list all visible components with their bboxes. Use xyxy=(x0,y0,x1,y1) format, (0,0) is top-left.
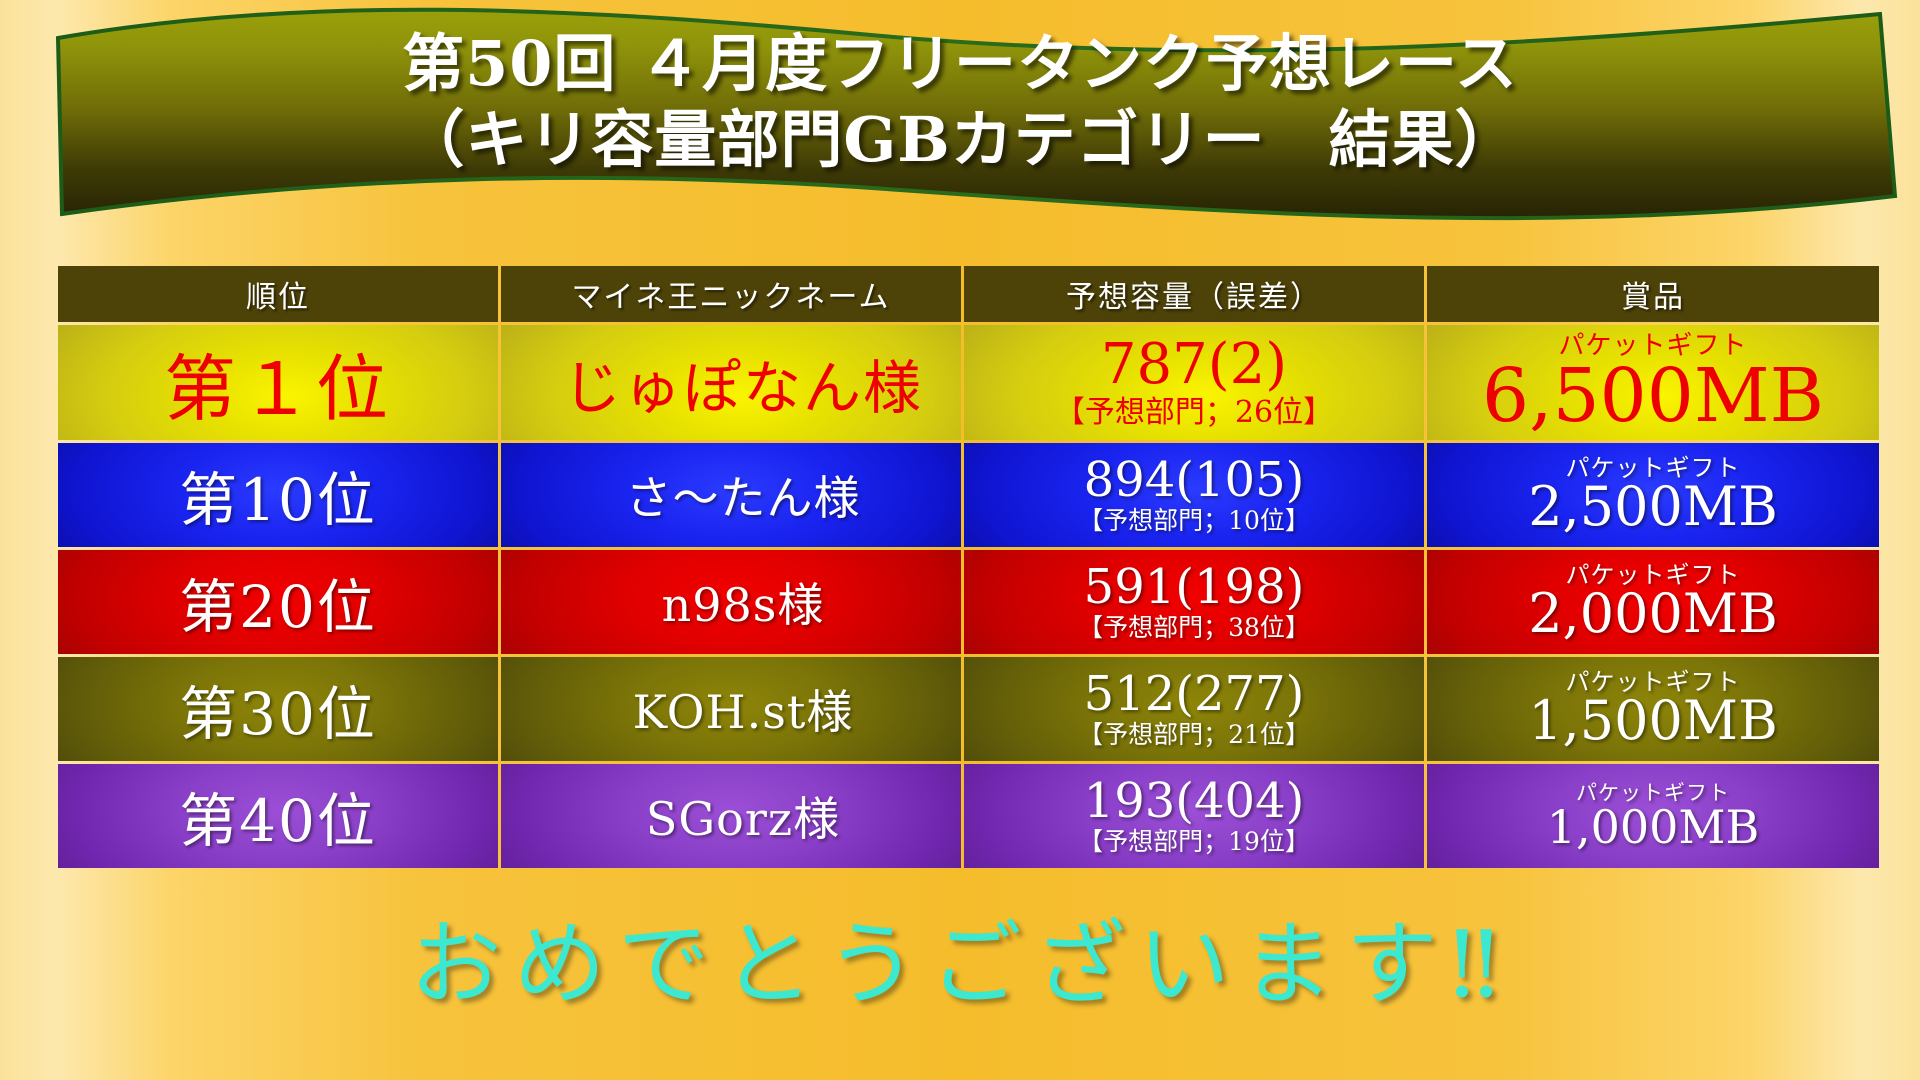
cell-rank: 第１位 xyxy=(58,325,498,440)
capacity-subnote: 【予想部門；10位】 xyxy=(964,507,1424,535)
table-header-row: 順位 マイネ王ニックネーム 予想容量（誤差） 賞品 xyxy=(58,266,1879,322)
nickname-value: さ～たん様 xyxy=(626,471,861,525)
prize-amount: 2,500MB xyxy=(1427,480,1879,534)
cell-rank: 第30位 xyxy=(58,657,498,761)
cell-capacity: 894(105) 【予想部門；10位】 xyxy=(964,443,1424,547)
rank-value: 第10位 xyxy=(179,466,377,534)
table-row: 第40位 SGorz様 193(404) 【予想部門；19位】 パケットギフト … xyxy=(58,764,1879,868)
capacity-value: 894(105) xyxy=(964,456,1424,505)
cell-rank: 第20位 xyxy=(58,550,498,654)
cell-nickname: n98s様 xyxy=(501,550,961,654)
rank-value: 第１位 xyxy=(164,347,392,431)
nickname-value: KOH.st様 xyxy=(633,685,854,739)
cell-nickname: さ～たん様 xyxy=(501,443,961,547)
cell-rank: 第10位 xyxy=(58,443,498,547)
prize-amount: 2,000MB xyxy=(1427,587,1879,641)
capacity-subnote: 【予想部門；21位】 xyxy=(964,721,1424,749)
capacity-subnote: 【予想部門；19位】 xyxy=(964,828,1424,856)
rank-value: 第20位 xyxy=(179,573,377,641)
banner-ribbon-shape xyxy=(0,0,1920,250)
cell-prize: パケットギフト 1,500MB xyxy=(1427,657,1879,761)
rank-value: 第30位 xyxy=(179,680,377,748)
poster-canvas: 第50回 ４月度フリータンク予想レース （キリ容量部門GBカテゴリー 結果） 順… xyxy=(0,0,1920,1080)
cell-nickname: SGorz様 xyxy=(501,764,961,868)
cell-capacity: 193(404) 【予想部門；19位】 xyxy=(964,764,1424,868)
table-row: 第１位 じゅぽなん様 787(2) 【予想部門；26位】 パケットギフト 6,5… xyxy=(58,325,1879,440)
column-header-capacity: 予想容量（誤差） xyxy=(964,266,1424,322)
nickname-value: SGorz様 xyxy=(646,792,840,846)
prize-amount: 1,000MB xyxy=(1427,804,1879,850)
cell-prize: パケットギフト 2,500MB xyxy=(1427,443,1879,547)
cell-prize: パケットギフト 6,500MB xyxy=(1427,325,1879,440)
capacity-value: 512(277) xyxy=(964,670,1424,719)
capacity-value: 193(404) xyxy=(964,777,1424,826)
column-header-prize: 賞品 xyxy=(1427,266,1879,322)
table-row: 第10位 さ～たん様 894(105) 【予想部門；10位】 パケットギフト 2… xyxy=(58,443,1879,547)
capacity-subnote: 【予想部門；26位】 xyxy=(964,396,1424,429)
nickname-value: n98s様 xyxy=(662,578,825,632)
cell-nickname: じゅぽなん様 xyxy=(501,325,961,440)
capacity-value: 787(2) xyxy=(964,336,1424,393)
prize-amount: 1,500MB xyxy=(1427,694,1879,748)
rank-value: 第40位 xyxy=(179,787,377,855)
column-header-nickname: マイネ王ニックネーム xyxy=(501,266,961,322)
cell-nickname: KOH.st様 xyxy=(501,657,961,761)
capacity-value: 591(198) xyxy=(964,563,1424,612)
cell-capacity: 591(198) 【予想部門；38位】 xyxy=(964,550,1424,654)
column-header-rank: 順位 xyxy=(58,266,498,322)
capacity-subnote: 【予想部門；38位】 xyxy=(964,614,1424,642)
table-row: 第30位 KOH.st様 512(277) 【予想部門；21位】 パケットギフト… xyxy=(58,657,1879,761)
cell-prize: パケットギフト 2,000MB xyxy=(1427,550,1879,654)
results-table: 順位 マイネ王ニックネーム 予想容量（誤差） 賞品 第１位 じゅぽなん様 787… xyxy=(55,263,1882,871)
prize-amount: 6,500MB xyxy=(1427,359,1879,433)
cell-rank: 第40位 xyxy=(58,764,498,868)
cell-capacity: 787(2) 【予想部門；26位】 xyxy=(964,325,1424,440)
table-row: 第20位 n98s様 591(198) 【予想部門；38位】 パケットギフト 2… xyxy=(58,550,1879,654)
cell-prize: パケットギフト 1,000MB xyxy=(1427,764,1879,868)
congratulations-message: おめでとうございます‼ xyxy=(0,890,1920,1023)
nickname-value: じゅぽなん様 xyxy=(563,354,923,422)
cell-capacity: 512(277) 【予想部門；21位】 xyxy=(964,657,1424,761)
title-banner: 第50回 ４月度フリータンク予想レース （キリ容量部門GBカテゴリー 結果） xyxy=(0,0,1920,250)
